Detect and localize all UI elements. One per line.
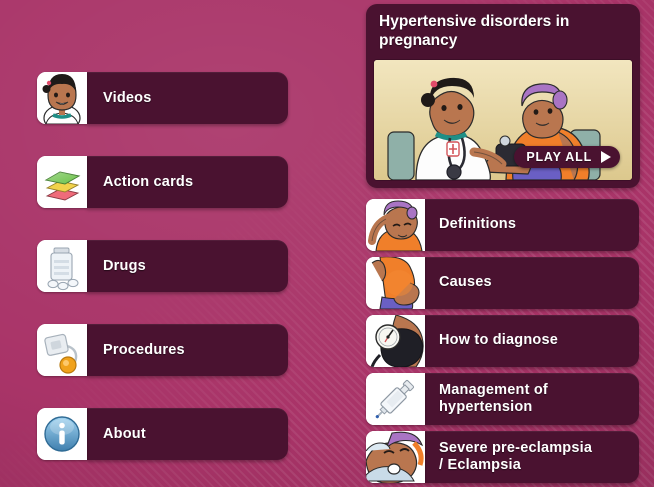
pill-bottle-icon <box>37 240 87 292</box>
topic-item-bar[interactable]: Severe pre-eclampsia / Eclampsia <box>425 431 639 483</box>
topic-item-bar[interactable]: How to diagnose <box>425 315 639 367</box>
play-triangle-icon <box>601 151 611 163</box>
sidebar-item-procedures[interactable]: Procedures <box>37 324 288 376</box>
pregnant-belly-icon <box>366 257 425 309</box>
sidebar-item-label: Procedures <box>87 342 185 358</box>
sidebar-item-bar[interactable]: Videos <box>87 72 288 124</box>
sidebar-item-action-cards[interactable]: Action cards <box>37 156 288 208</box>
topic-item-bar[interactable]: Definitions <box>425 199 639 251</box>
sidebar-item-label: Action cards <box>87 174 193 190</box>
play-all-button[interactable]: PLAY ALL <box>514 146 620 168</box>
syringe-icon <box>366 373 425 425</box>
sidebar-item-bar[interactable]: Procedures <box>87 324 288 376</box>
topic-item-label: Definitions <box>425 216 524 233</box>
sidebar-item-videos[interactable]: Videos <box>37 72 288 124</box>
topic-item-bar[interactable]: Management of hypertension <box>425 373 639 425</box>
sidebar-item-bar[interactable]: Action cards <box>87 156 288 208</box>
info-circle-icon <box>37 408 87 460</box>
sidebar-item-label: Drugs <box>87 258 146 274</box>
sidebar-item-about[interactable]: About <box>37 408 288 460</box>
topic-panel: Hypertensive disorders in pregnancy <box>362 0 654 487</box>
sidebar-item-bar[interactable]: About <box>87 408 288 460</box>
topic-item-management-of-hypertension[interactable]: Management of hypertension <box>366 373 639 425</box>
topic-item-label: Severe pre-eclampsia / Eclampsia <box>425 440 600 474</box>
topic-item-causes[interactable]: Causes <box>366 257 639 309</box>
health-worker-portrait-icon <box>37 72 87 124</box>
topic-item-bar[interactable]: Causes <box>425 257 639 309</box>
topic-item-label: Management of hypertension <box>425 382 556 416</box>
sidebar-item-drugs[interactable]: Drugs <box>37 240 288 292</box>
topic-item-definitions[interactable]: Definitions <box>366 199 639 251</box>
sidebar-item-bar[interactable]: Drugs <box>87 240 288 292</box>
stacked-cards-icon <box>37 156 87 208</box>
sidebar: Videos Action cards <box>0 0 352 487</box>
play-all-label: PLAY ALL <box>526 150 592 164</box>
blood-pressure-cuff-icon <box>366 315 425 367</box>
hero-illustration: PLAY ALL <box>374 60 632 180</box>
sidebar-item-label: About <box>87 426 146 442</box>
procedure-kit-icon <box>37 324 87 376</box>
unconscious-woman-icon <box>366 431 425 483</box>
woman-headache-icon <box>366 199 425 251</box>
topic-item-how-to-diagnose[interactable]: How to diagnose <box>366 315 639 367</box>
topic-item-severe-pre-eclampsia[interactable]: Severe pre-eclampsia / Eclampsia <box>366 431 639 483</box>
page-title: Hypertensive disorders in pregnancy <box>366 4 640 60</box>
topic-item-label: How to diagnose <box>425 332 566 349</box>
hero-card[interactable]: Hypertensive disorders in pregnancy <box>366 4 640 188</box>
topic-item-label: Causes <box>425 274 500 291</box>
sidebar-item-label: Videos <box>87 90 151 106</box>
